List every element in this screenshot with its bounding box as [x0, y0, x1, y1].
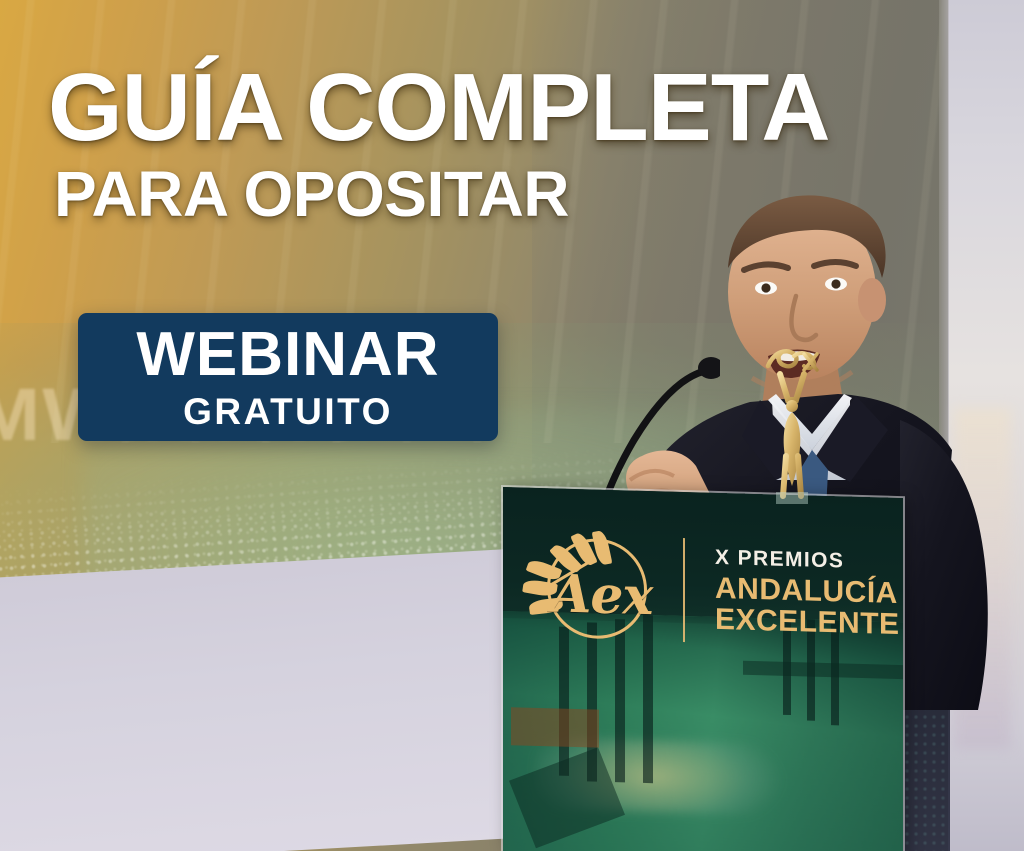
badge-sub-label: GRATUITO: [183, 393, 393, 430]
award-kicker: X PREMIOS: [715, 547, 900, 574]
poster-image: MWINTRO: [0, 0, 1024, 851]
badge-main-label: WEBINAR: [136, 324, 439, 386]
aex-laurel-icon: Aex: [517, 528, 667, 647]
aex-award-logo: Aex X PREMIOS ANDALUCÍA EXCELENTE: [517, 525, 889, 655]
award-title-block: X PREMIOS ANDALUCÍA EXCELENTE: [701, 546, 900, 640]
microphone: [590, 348, 720, 508]
aex-wordmark: Aex: [551, 563, 652, 627]
background-wall: [0, 546, 573, 851]
headline-block: GUÍA COMPLETA PARA OPOSITAR: [48, 62, 968, 226]
page-subtitle: PARA OPOSITAR: [54, 162, 968, 226]
logo-divider: [683, 538, 685, 642]
page-title: GUÍA COMPLETA: [48, 62, 968, 154]
aex-trophy: [764, 344, 820, 504]
podium: Aex X PREMIOS ANDALUCÍA EXCELENTE: [503, 487, 903, 851]
award-title-line2: EXCELENTE: [715, 604, 900, 640]
webinar-badge: WEBINAR GRATUITO: [78, 313, 498, 441]
